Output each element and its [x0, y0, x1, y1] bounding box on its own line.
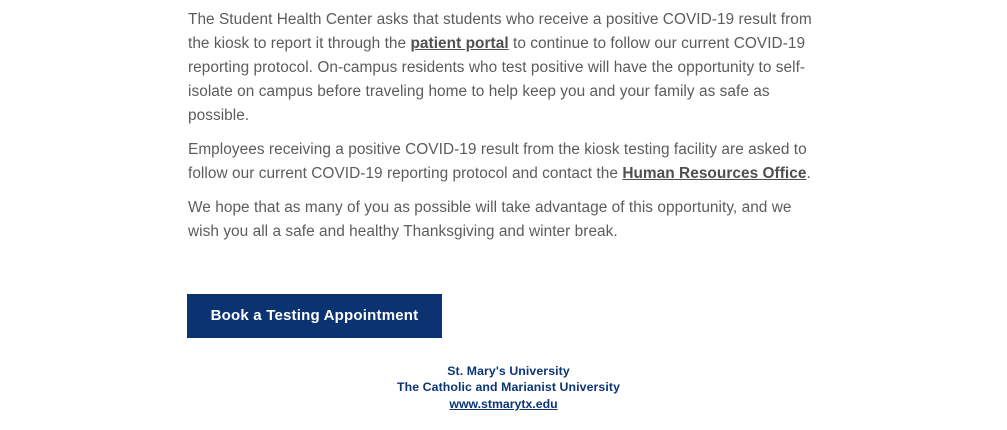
email-body-page: The Student Health Center asks that stud…	[0, 0, 1007, 430]
cta-container: Book a Testing Appointment	[187, 294, 442, 338]
paragraph-closing: We hope that as many of you as possible …	[188, 196, 816, 244]
human-resources-office-link[interactable]: Human Resources Office	[622, 165, 806, 182]
paragraph-student-health-center: The Student Health Center asks that stud…	[188, 8, 816, 128]
footer-website-link[interactable]: www.stmarytx.edu	[449, 396, 557, 412]
footer-university-name: St. Mary's University	[0, 363, 1007, 379]
footer-university-tagline: The Catholic and Marianist University	[0, 379, 1007, 395]
paragraph-employees: Employees receiving a positive COVID-19 …	[188, 138, 816, 186]
paragraph-2-text-after-link: .	[806, 165, 810, 182]
patient-portal-link[interactable]: patient portal	[410, 35, 508, 52]
email-footer: St. Mary's University The Catholic and M…	[0, 363, 1007, 413]
message-content: The Student Health Center asks that stud…	[188, 8, 816, 254]
book-a-testing-appointment-button[interactable]: Book a Testing Appointment	[187, 294, 442, 338]
